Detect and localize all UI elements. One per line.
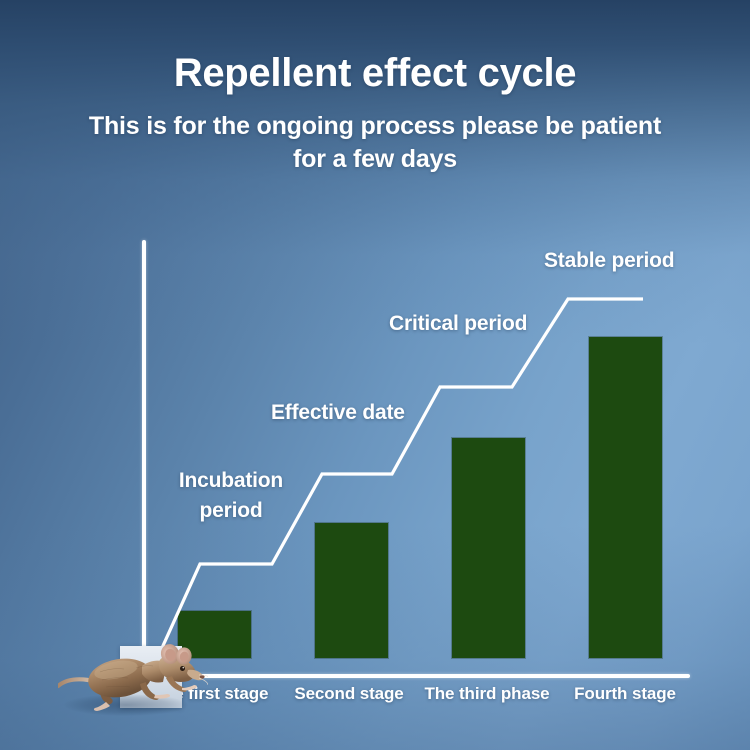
x-label-stage-4: Fourth stage <box>556 684 694 704</box>
annotation-incubation-line-2: period <box>200 499 263 522</box>
annotation-incubation-line-1: Incubation <box>179 469 283 492</box>
running-mouse-icon <box>58 628 208 724</box>
y-axis-line <box>142 240 146 678</box>
bar-fourth-stage <box>589 337 662 658</box>
x-axis-labels: The first stage Second stage The third p… <box>142 684 694 704</box>
x-label-stage-3: The third phase <box>418 684 556 704</box>
x-label-stage-2: Second stage <box>280 684 418 704</box>
annotation-stable-period: Stable period <box>544 246 674 276</box>
annotation-incubation-period: Incubation period <box>168 466 294 527</box>
infographic-canvas: Repellent effect cycle This is for the o… <box>0 0 750 750</box>
bar-second-stage <box>315 523 388 658</box>
bar-the-third-phase <box>452 438 525 658</box>
annotation-effective-date: Effective date <box>271 398 405 428</box>
mouse-illustration <box>58 628 208 724</box>
annotation-critical-period: Critical period <box>389 309 527 339</box>
x-axis-line <box>142 674 690 678</box>
